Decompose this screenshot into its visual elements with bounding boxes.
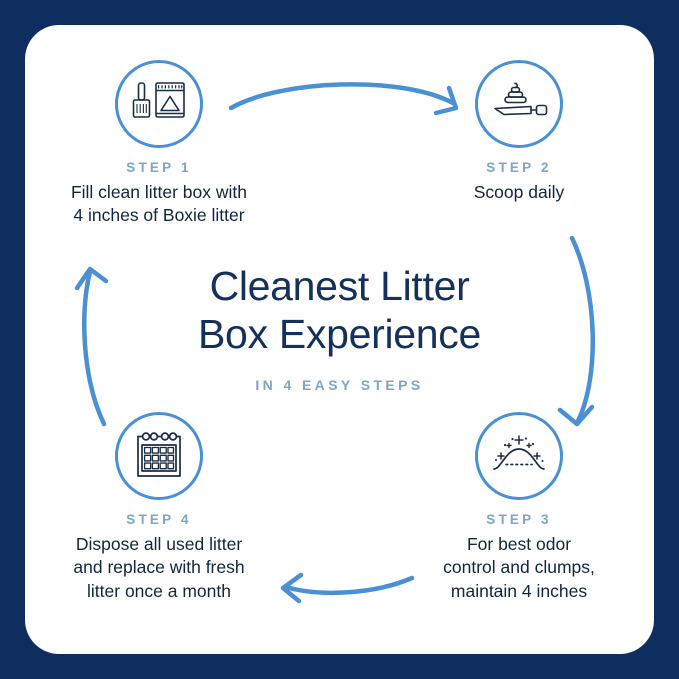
page-title: Cleanest Litter Box Experience <box>90 262 589 359</box>
step-1-text: Fill clean litter box with 4 inches of B… <box>19 181 299 228</box>
scoop-with-waste-icon <box>490 81 548 127</box>
litter-mound-sparkle-icon <box>489 433 549 479</box>
step-4-text: Dispose all used litter and replace with… <box>19 533 299 603</box>
step-2-text: Scoop daily <box>379 181 659 204</box>
step-1-icon-circle <box>115 60 203 148</box>
center-headline-block: Cleanest Litter Box Experience IN 4 EASY… <box>90 262 589 393</box>
scoop-and-litter-bag-icon <box>130 80 188 128</box>
step-3-icon-circle <box>475 412 563 500</box>
step-4-icon-circle <box>115 412 203 500</box>
page-subtitle: IN 4 EASY STEPS <box>90 377 589 393</box>
step-3: STEP 3 For best odor control and clumps,… <box>379 412 659 603</box>
step-3-label: STEP 3 <box>379 512 659 527</box>
step-2-label: STEP 2 <box>379 160 659 175</box>
step-4-label: STEP 4 <box>19 512 299 527</box>
infographic-frame: STEP 1 Fill clean litter box with 4 inch… <box>0 0 679 679</box>
calendar-icon <box>132 431 186 481</box>
step-1: STEP 1 Fill clean litter box with 4 inch… <box>19 60 299 228</box>
step-1-label: STEP 1 <box>19 160 299 175</box>
step-4: STEP 4 Dispose all used litter and repla… <box>19 412 299 603</box>
step-3-text: For best odor control and clumps, mainta… <box>379 533 659 603</box>
step-2: STEP 2 Scoop daily <box>379 60 659 204</box>
step-2-icon-circle <box>475 60 563 148</box>
